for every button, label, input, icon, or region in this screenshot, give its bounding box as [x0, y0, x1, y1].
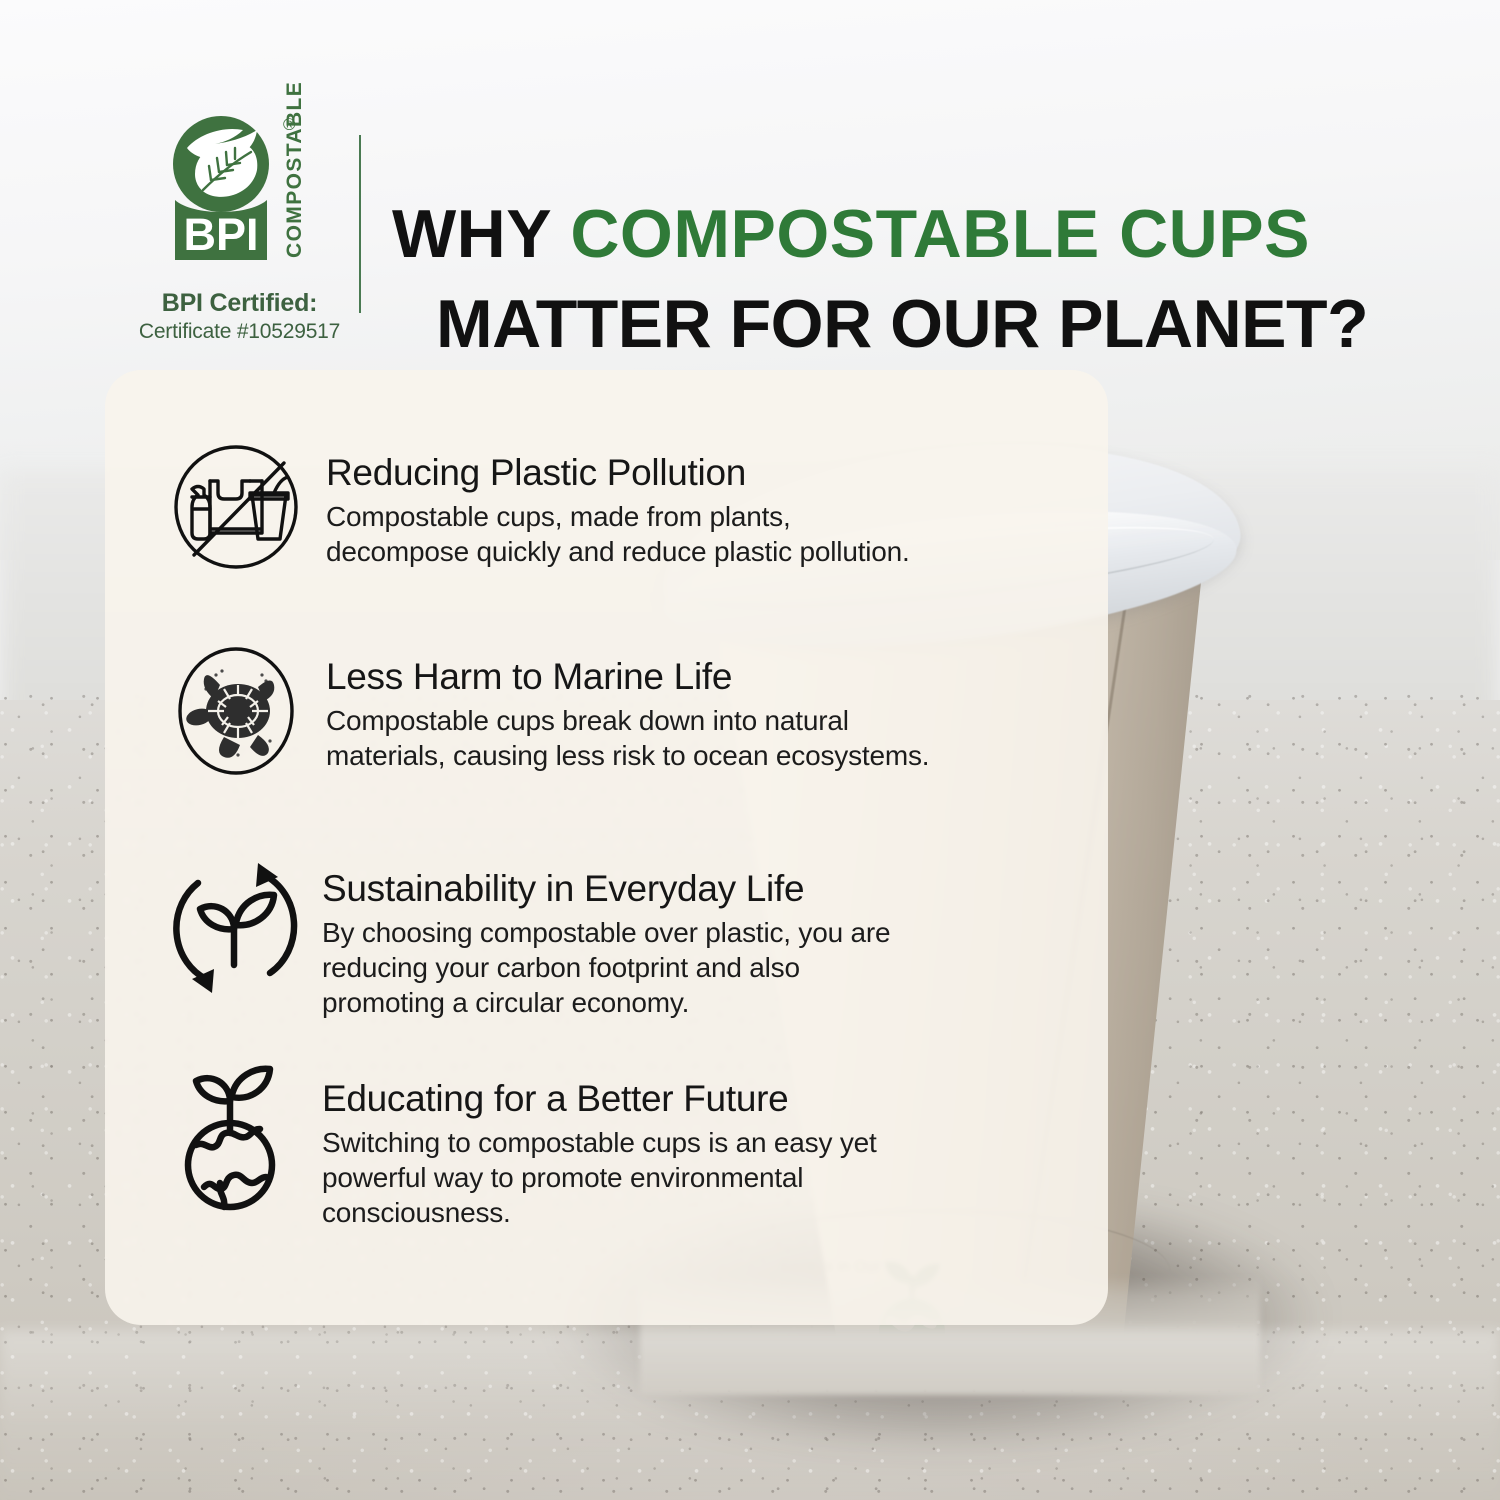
- benefit-item-sustainability-in-everyday-life: Sustainability in Everyday Life By choos…: [166, 853, 890, 1020]
- title-line2: MATTER FOR OUR PLANET?: [436, 279, 1392, 369]
- bpi-leaf-circle: [173, 116, 269, 212]
- benefit-description: By choosing compostable over plastic, yo…: [322, 915, 890, 1020]
- compostable-side-text: COMPOSTABLE: [283, 81, 306, 258]
- benefit-item-text: Sustainability in Everyday Life By choos…: [322, 853, 890, 1020]
- benefit-title: Reducing Plastic Pollution: [326, 451, 910, 495]
- benefit-item-text: Less Harm to Marine Life Compostable cup…: [326, 641, 929, 773]
- sea-turtle-icon: [166, 641, 306, 781]
- benefit-item-text: Educating for a Better Future Switching …: [322, 1061, 877, 1230]
- registered-trademark-symbol: ®: [283, 115, 296, 134]
- bpi-word-mark: BPI: [183, 209, 258, 260]
- bpi-certification-block: BPI COMPOSTABLE ® BPI Certified: Certifi…: [132, 108, 347, 344]
- benefit-description: Compostable cups break down into natural…: [326, 703, 929, 773]
- globe-sprout-icon: [166, 1061, 302, 1211]
- benefit-description: Compostable cups, made from plants, deco…: [326, 499, 910, 569]
- recycle-sprout-icon: [166, 853, 302, 1003]
- bpi-certified-label: BPI Certified:: [132, 289, 347, 318]
- infographic-canvas: Earth is in Our Hands: [0, 0, 1500, 1500]
- title-line1-black: WHY: [392, 196, 551, 272]
- title-line1-green: COMPOSTABLE CUPS: [570, 196, 1310, 272]
- benefit-item-text: Reducing Plastic Pollution Compostable c…: [326, 437, 910, 569]
- benefit-item-less-harm-to-marine-life: Less Harm to Marine Life Compostable cup…: [166, 641, 929, 781]
- bpi-certificate-number: Certificate #10529517: [132, 320, 347, 344]
- benefit-description: Switching to compostable cups is an easy…: [322, 1125, 877, 1230]
- header: BPI COMPOSTABLE ® BPI Certified: Certifi…: [0, 0, 1500, 370]
- no-plastic-icon: [166, 437, 306, 577]
- benefit-title: Sustainability in Everyday Life: [322, 867, 890, 911]
- benefit-title: Less Harm to Marine Life: [326, 655, 929, 699]
- sand-foreground-highlight: [0, 1330, 1500, 1500]
- bpi-compostable-logo: BPI COMPOSTABLE ®: [165, 108, 315, 283]
- benefit-item-educating-for-a-better-future: Educating for a Better Future Switching …: [166, 1061, 877, 1230]
- page-title: WHY COMPOSTABLE CUPS MATTER FOR OUR PLAN…: [392, 189, 1392, 369]
- benefit-title: Educating for a Better Future: [322, 1077, 877, 1121]
- header-vertical-divider: [359, 135, 361, 313]
- benefit-item-reducing-plastic-pollution: Reducing Plastic Pollution Compostable c…: [166, 437, 910, 577]
